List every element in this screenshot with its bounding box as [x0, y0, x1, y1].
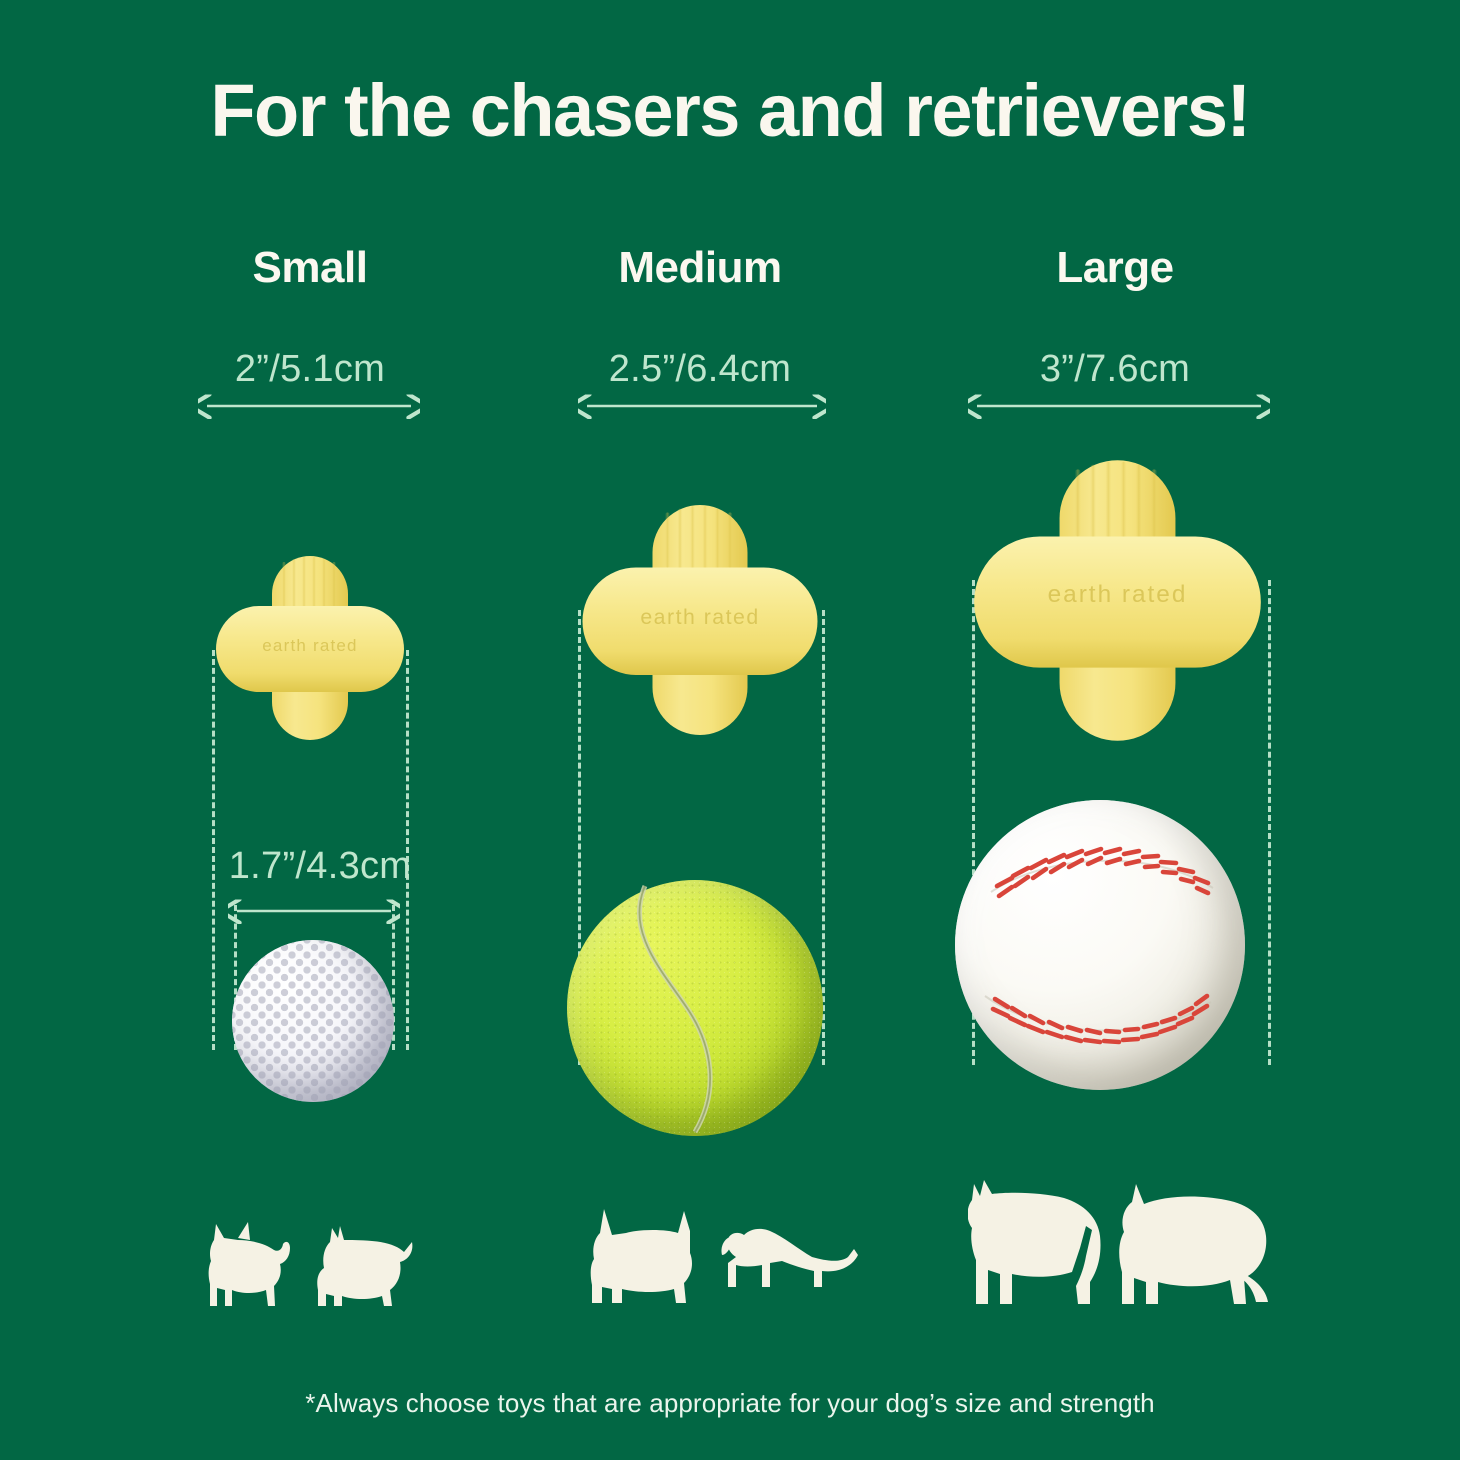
toy-emboss-medium: earth rated [640, 605, 759, 629]
toy-small: earth rated [210, 548, 410, 748]
dog-silhouettes-medium [590, 1205, 860, 1317]
dog-silhouettes-large [968, 1178, 1278, 1318]
comparison-width-arrow-small [228, 898, 400, 924]
column-title-small: Small [130, 243, 490, 293]
toy-measure-small: 2”/5.1cm [130, 348, 490, 391]
toy-measure-medium: 2.5”/6.4cm [520, 348, 880, 391]
baseball-stitches-bottom [993, 996, 1207, 1042]
golf-ball [232, 940, 394, 1102]
dog-retriever [1119, 1184, 1266, 1304]
page-title: For the chasers and retrievers! [0, 72, 1460, 150]
dog-dachshund [727, 1229, 858, 1287]
tennis-ball [567, 880, 823, 1136]
dog-chihuahua [238, 1222, 250, 1240]
toy-measure-large: 3”/7.6cm [935, 348, 1295, 391]
toy-emboss-large: earth rated [1048, 581, 1188, 608]
width-arrow-small [198, 393, 420, 419]
dog-french-bulldog [591, 1209, 692, 1303]
footnote: *Always choose toys that are appropriate… [0, 1388, 1460, 1419]
toy-medium: earth rated [575, 495, 825, 745]
dog-terrier [317, 1226, 412, 1306]
column-title-medium: Medium [520, 243, 880, 293]
toy-emboss-small: earth rated [262, 636, 357, 655]
width-arrow-medium [578, 393, 826, 419]
baseball [955, 800, 1245, 1090]
toy-large: earth rated [965, 448, 1270, 753]
golf-ball-dimples [232, 940, 394, 1102]
dog-dachshund [721, 1237, 732, 1255]
dog-silhouettes-small [198, 1218, 438, 1318]
size-chart-graphic: For the chasers and retrievers! Small Me… [0, 0, 1460, 1460]
tennis-ball-seam [567, 880, 823, 1136]
dog-boxer [968, 1180, 1101, 1304]
width-arrow-large [968, 393, 1270, 419]
comparison-measure-small: 1.7”/4.3cm [120, 845, 520, 888]
column-title-large: Large [935, 243, 1295, 293]
baseball-stitching [955, 800, 1245, 1090]
